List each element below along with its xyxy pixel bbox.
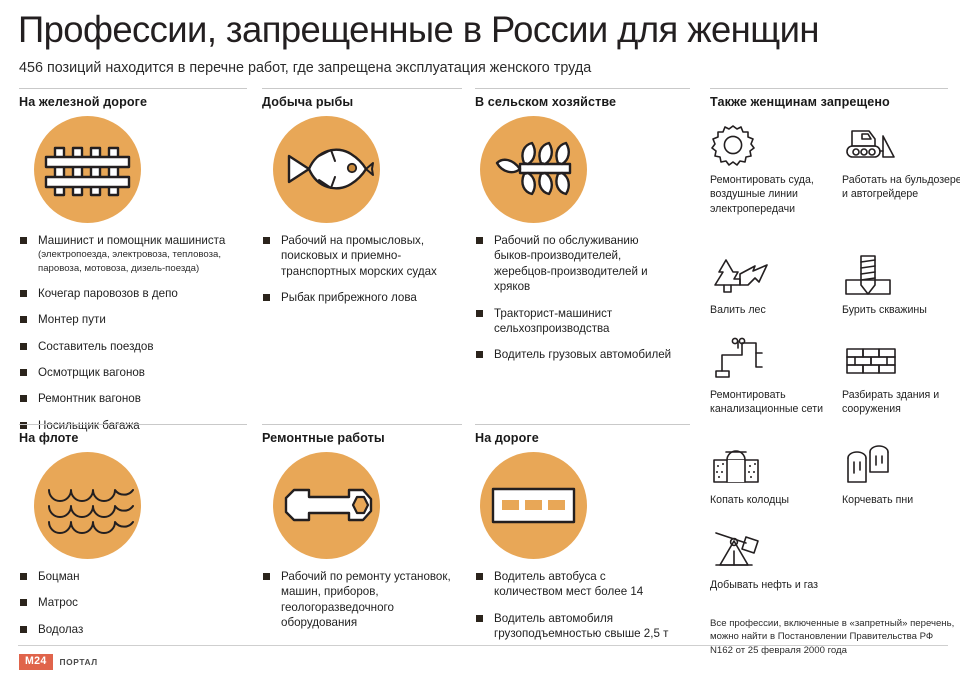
section-rule	[475, 88, 690, 89]
list-item-main: Рыбак прибрежного лова	[281, 290, 442, 305]
section-rule	[710, 88, 948, 89]
list-item: Тракторист-машинист сельхозпроизводства	[475, 306, 675, 337]
list-fishing: Рабочий на промысловых, поисковых и прие…	[262, 233, 442, 317]
list-item: Боцман	[19, 569, 241, 584]
well-icon	[710, 442, 838, 488]
list-agriculture: Рабочий по обслуживанию быков-производит…	[475, 233, 675, 374]
fish-icon	[273, 116, 380, 223]
list-item: Водитель грузовых автомобилей	[475, 347, 675, 362]
infographic-page: Профессии, запрещенные в России для женщ…	[0, 0, 960, 677]
list-item: Осмотрщик вагонов	[19, 365, 241, 380]
picto-felled-tree: Валить лес	[710, 252, 838, 317]
picto-caption: Добывать нефть и газ	[710, 578, 838, 592]
picto-well: Копать колодцы	[710, 442, 838, 507]
felled-tree-icon	[710, 252, 838, 298]
page-title: Профессии, запрещенные в России для женщ…	[18, 8, 819, 52]
list-item: Монтер пути	[19, 312, 241, 327]
gear-icon	[710, 122, 838, 168]
list-item-main: Тракторист-машинист сельхозпроизводства	[494, 306, 675, 337]
picto-tree-stumps: Корчевать пни	[842, 442, 960, 507]
section-heading-agriculture: В сельском хозяйстве	[475, 95, 616, 109]
picto-caption: Разбирать здания и сооружения	[842, 388, 960, 417]
tree-stumps-icon	[842, 442, 960, 488]
waves-icon	[34, 452, 141, 559]
list-item: Рабочий на промысловых, поисковых и прие…	[262, 233, 442, 279]
picto-brick-wall: Разбирать здания и сооружения	[842, 337, 960, 417]
list-item-main: Рабочий по обслуживанию быков-производит…	[494, 233, 675, 295]
list-item-main: Рабочий на промысловых, поисковых и прие…	[281, 233, 442, 279]
list-item-main: Водолаз	[38, 622, 241, 637]
picto-bulldozer: Работать на бульдозере и автогрейдере	[842, 122, 960, 202]
list-item-sub: (электропоезда, электровоза, тепловоза, …	[38, 248, 241, 274]
list-item-main: Машинист и помощник машиниста	[38, 233, 241, 248]
section-rule	[19, 424, 247, 425]
section-rule	[475, 424, 690, 425]
section-rule	[262, 88, 462, 89]
picto-caption: Бурить скважины	[842, 303, 960, 317]
list-item-main: Водитель грузовых автомобилей	[494, 347, 675, 362]
list-item: Рабочий по ремонту установок, машин, при…	[262, 569, 452, 631]
section-heading-railway: На железной дороге	[19, 95, 147, 109]
picto-drill-bit: Бурить скважины	[842, 252, 960, 317]
pipe-faucet-icon	[710, 337, 838, 383]
section-heading-repair: Ремонтные работы	[262, 431, 385, 445]
list-item: Водитель автомобиля грузоподъемностью св…	[475, 611, 670, 642]
footer-note: Все профессии, включенные в «запретный» …	[710, 617, 958, 657]
list-item-main: Составитель поездов	[38, 339, 241, 354]
list-road: Водитель автобуса с количеством мест бол…	[475, 569, 670, 653]
list-item-main: Монтер пути	[38, 312, 241, 327]
picto-pipe-faucet: Ремонтировать канализационные сети	[710, 337, 838, 417]
picto-oil-pumpjack: Добывать нефть и газ	[710, 527, 838, 592]
list-item: Ремонтник вагонов	[19, 391, 241, 406]
section-rule	[262, 424, 462, 425]
drill-bit-icon	[842, 252, 960, 298]
list-item-main: Рабочий по ремонту установок, машин, при…	[281, 569, 452, 631]
section-heading-also: Также женщинам запрещено	[710, 95, 890, 109]
picto-caption: Работать на бульдозере и автогрейдере	[842, 173, 960, 202]
picto-gear: Ремонтировать суда, воздушные линии элек…	[710, 122, 838, 216]
list-item-main: Матрос	[38, 595, 241, 610]
picto-caption: Ремонтировать суда, воздушные линии элек…	[710, 173, 838, 216]
picto-caption: Копать колодцы	[710, 493, 838, 507]
picto-caption: Ремонтировать канализационные сети	[710, 388, 838, 417]
list-fleet: Боцман Матрос Водолаз	[19, 569, 241, 648]
railway-track-icon	[34, 116, 141, 223]
list-item-main: Водитель автобуса с количеством мест бол…	[494, 569, 670, 600]
section-heading-fishing: Добыча рыбы	[262, 95, 353, 109]
list-item-main: Ремонтник вагонов	[38, 391, 241, 406]
list-item: Водитель автобуса с количеством мест бол…	[475, 569, 670, 600]
list-item-main: Боцман	[38, 569, 241, 584]
logo-word: портал	[60, 657, 98, 667]
bulldozer-icon	[842, 122, 960, 168]
wheat-icon	[480, 116, 587, 223]
list-repair: Рабочий по ремонту установок, машин, при…	[262, 569, 452, 642]
list-item-main: Кочегар паровозов в депо	[38, 286, 241, 301]
picto-caption: Валить лес	[710, 303, 838, 317]
list-railway: Машинист и помощник машиниста (электропо…	[19, 233, 241, 444]
list-item: Водолаз	[19, 622, 241, 637]
brick-wall-icon	[842, 337, 960, 383]
list-item: Рыбак прибрежного лова	[262, 290, 442, 305]
list-item: Машинист и помощник машиниста (электропо…	[19, 233, 241, 275]
section-rule	[19, 88, 247, 89]
road-icon	[480, 452, 587, 559]
wrench-icon	[273, 452, 380, 559]
section-heading-road: На дороге	[475, 431, 539, 445]
oil-pumpjack-icon	[710, 527, 838, 573]
picto-caption: Корчевать пни	[842, 493, 960, 507]
list-item-main: Водитель автомобиля грузоподъемностью св…	[494, 611, 670, 642]
list-item: Рабочий по обслуживанию быков-производит…	[475, 233, 675, 295]
page-subtitle: 456 позиций находится в перечне работ, г…	[19, 59, 591, 78]
footer-divider	[18, 645, 948, 646]
logo-badge: M24	[19, 654, 53, 670]
list-item: Составитель поездов	[19, 339, 241, 354]
section-heading-fleet: На флоте	[19, 431, 79, 445]
list-item: Матрос	[19, 595, 241, 610]
list-item-main: Осмотрщик вагонов	[38, 365, 241, 380]
logo[interactable]: M24 портал	[19, 654, 98, 670]
list-item: Кочегар паровозов в депо	[19, 286, 241, 301]
